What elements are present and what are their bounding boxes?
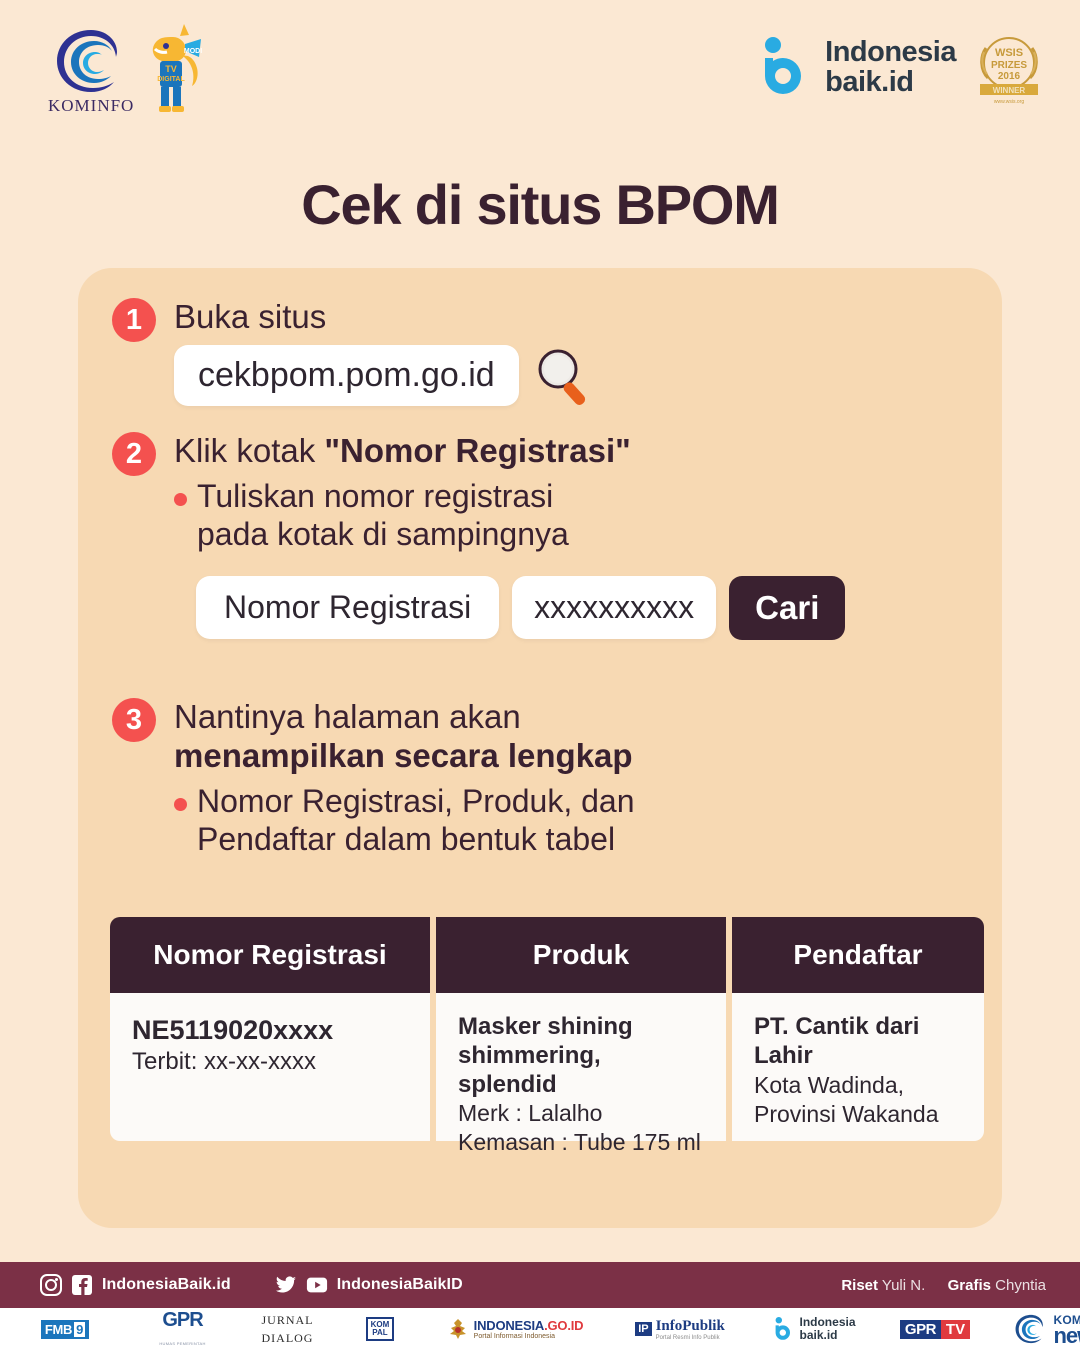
kominfo-newsroom-line2: newsroom	[1053, 1327, 1080, 1346]
social-handle-1[interactable]: IndonesiaBaik.id	[102, 1276, 231, 1294]
step-3-badge: 3	[112, 698, 156, 742]
infopublik-logo[interactable]: IP InfoPublik Portal Resmi Info Publik	[610, 1318, 750, 1341]
facebook-icon[interactable]	[71, 1274, 93, 1296]
page-title: Cek di situs BPOM	[0, 172, 1080, 237]
step-3-bullet-line2: Pendaftar dalam bentuk tabel	[197, 820, 635, 858]
kominfo-wave-icon	[54, 28, 128, 94]
step-2-heading: Klik kotak "Nomor Registrasi"	[174, 432, 845, 471]
indonesiabaik-b-icon	[761, 36, 811, 98]
step-1-badge: 1	[112, 298, 156, 342]
infopublik-text: InfoPublik	[656, 1318, 725, 1335]
kominfo-branding: KOMINFO TV DIGITAL MODI	[48, 16, 208, 116]
credits: Riset Yuli N. Grafis Chyntia	[841, 1277, 1046, 1294]
kompal-text2: PAL	[372, 1328, 387, 1337]
svg-text:WSIS: WSIS	[995, 47, 1023, 59]
table-header-produk: Produk	[436, 917, 726, 993]
gpr-logo[interactable]: GPR HUMAS PEMERINTAH	[130, 1309, 235, 1350]
step-2-heading-prefix: Klik kotak	[174, 432, 324, 469]
grafis-name: Chyntia	[995, 1277, 1046, 1294]
registration-code: NE5119020xxxx	[132, 1013, 408, 1047]
step-1: 1 Buka situs cekbpom.pom.go.id	[112, 298, 595, 407]
step-2-bullet-line1: Tuliskan nomor registrasi	[197, 477, 569, 515]
fmb9-text: FMB	[45, 1322, 72, 1337]
cari-button[interactable]: Cari	[729, 576, 845, 640]
svg-text:DIGITAL: DIGITAL	[157, 76, 185, 83]
indonesiabaik-b-icon	[774, 1316, 794, 1342]
produk-name-line1: Masker shining	[458, 1013, 704, 1042]
kominfo-newsroom-logo[interactable]: KOMINFO newsroom	[990, 1313, 1080, 1346]
step-3-heading-line2: menampilkan secara lengkap	[174, 737, 635, 776]
indonesiabaik-branding: Indonesia baik.id WSIS PRIZES 2016 WINNE…	[761, 28, 1048, 106]
twitter-icon[interactable]	[275, 1274, 297, 1296]
indonesiabaik-line2: baik.id	[825, 67, 956, 97]
footer-social-bar: IndonesiaBaik.id IndonesiaBaikID Riset Y…	[0, 1262, 1080, 1308]
table-cell-nomor-registrasi: NE5119020xxxx Terbit: xx-xx-xxxx	[110, 993, 430, 1141]
table-column-pendaftar: Pendaftar PT. Cantik dari Lahir Kota Wad…	[732, 917, 984, 1141]
pendaftar-city: Kota Wadinda,	[754, 1071, 962, 1100]
indonesiabaik-footer-logo[interactable]: Indonesia baik.id	[750, 1316, 880, 1342]
indonesia-go-id-text: INDONESIA.GO.ID	[474, 1318, 584, 1333]
fmb9-number: 9	[74, 1322, 85, 1337]
indonesiabaik-wordmark: Indonesia baik.id	[825, 37, 956, 98]
produk-kemasan: Kemasan : Tube 175 ml	[458, 1128, 704, 1157]
svg-text:www.wsis.org: www.wsis.org	[994, 99, 1025, 105]
step-2-heading-bold: "Nomor Registrasi"	[324, 432, 630, 469]
registration-type-select[interactable]: Nomor Registrasi	[196, 576, 499, 639]
step-2-bullet-line2: pada kotak di sampingnya	[197, 515, 569, 553]
produk-merk: Merk : Lalalho	[458, 1099, 704, 1128]
url-row: cekbpom.pom.go.id	[174, 345, 595, 407]
table-column-nomor-registrasi: Nomor Registrasi NE5119020xxxx Terbit: x…	[110, 917, 430, 1141]
step-3-bullet: Nomor Registrasi, Produk, dan Pendaftar …	[174, 782, 635, 859]
social-group-1: IndonesiaBaik.id IndonesiaBaikID	[40, 1274, 463, 1296]
svg-text:WINNER: WINNER	[993, 86, 1026, 95]
kompal-logo[interactable]: KOM PAL	[340, 1317, 420, 1340]
bpom-search-form: Nomor Registrasi xxxxxxxxxx Cari	[196, 576, 845, 640]
infographic-page: KOMINFO TV DIGITAL MODI	[0, 0, 1080, 1350]
wsis-prizes-award-icon: WSIS PRIZES 2016 WINNER www.wsis.org	[970, 28, 1048, 106]
step-2-bullet-text: Tuliskan nomor registrasi pada kotak di …	[197, 477, 569, 554]
indonesiabaik-line1: Indonesia	[825, 37, 956, 67]
step-2: 2 Klik kotak "Nomor Registrasi" Tuliskan…	[112, 432, 845, 640]
header: KOMINFO TV DIGITAL MODI	[0, 0, 1080, 140]
social-handle-2[interactable]: IndonesiaBaikID	[337, 1276, 463, 1294]
website-url-field[interactable]: cekbpom.pom.go.id	[174, 345, 519, 406]
step-3-heading-line1: Nantinya halaman akan	[174, 698, 635, 737]
gpr-text: GPR	[162, 1309, 202, 1331]
result-table: Nomor Registrasi NE5119020xxxx Terbit: x…	[110, 917, 972, 1141]
step-2-bullet: Tuliskan nomor registrasi pada kotak di …	[174, 477, 845, 554]
riset-name: Yuli N.	[882, 1277, 925, 1294]
bullet-dot-icon	[174, 493, 187, 506]
table-cell-pendaftar: PT. Cantik dari Lahir Kota Wadinda, Prov…	[732, 993, 984, 1141]
fmb9-logo[interactable]: FMB9	[0, 1320, 130, 1339]
produk-name-line2: shimmering, splendid	[458, 1042, 704, 1100]
step-1-heading: Buka situs	[174, 298, 595, 337]
mascot-flag-label: MODI	[184, 48, 202, 55]
indonesia-go-id-subtext: Portal Informasi Indonesia	[474, 1333, 584, 1340]
table-column-produk: Produk Masker shining shimmering, splend…	[436, 917, 726, 1141]
registration-number-input[interactable]: xxxxxxxxxx	[512, 576, 716, 639]
kominfo-wave-icon	[1014, 1314, 1048, 1344]
jurnal-dialog-logo[interactable]: JURNAL DIALOG	[235, 1311, 340, 1347]
youtube-icon[interactable]	[306, 1274, 328, 1296]
gprtv-tv-text: TV	[941, 1320, 970, 1339]
gpr-subtext: HUMAS PEMERINTAH	[159, 1341, 205, 1346]
step-3-bullet-text: Nomor Registrasi, Produk, dan Pendaftar …	[197, 782, 635, 859]
step-3-bullet-line1: Nomor Registrasi, Produk, dan	[197, 782, 635, 820]
magnifying-glass-icon	[533, 345, 595, 407]
riset-label: Riset	[841, 1277, 878, 1294]
step-3: 3 Nantinya halaman akan menampilkan seca…	[112, 698, 635, 859]
gprtv-logo[interactable]: GPR TV	[880, 1320, 990, 1339]
grafis-label: Grafis	[948, 1277, 991, 1294]
instagram-icon[interactable]	[40, 1274, 62, 1296]
indonesiabaik-footer-line2: baik.id	[799, 1329, 855, 1342]
bullet-dot-icon	[174, 798, 187, 811]
registration-terbit: Terbit: xx-xx-xxxx	[132, 1047, 408, 1077]
svg-text:PRIZES: PRIZES	[991, 60, 1027, 71]
svg-text:2016: 2016	[998, 71, 1021, 82]
jurnal-text: JURNAL	[261, 1313, 313, 1327]
garuda-icon	[447, 1318, 469, 1340]
footer-partner-logos: FMB9 GPR HUMAS PEMERINTAH JURNAL DIALOG …	[0, 1308, 1080, 1350]
pendaftar-province: Provinsi Wakanda	[754, 1100, 962, 1129]
step-2-badge: 2	[112, 432, 156, 476]
gprtv-gpr-text: GPR	[900, 1320, 941, 1339]
kominfo-logo: KOMINFO	[48, 28, 134, 116]
pendaftar-company: PT. Cantik dari Lahir	[754, 1013, 962, 1071]
dialog-text: DIALOG	[261, 1331, 313, 1345]
kominfo-wordmark: KOMINFO	[48, 96, 134, 116]
svg-text:TV: TV	[165, 64, 177, 74]
indonesia-go-id-logo[interactable]: INDONESIA.GO.ID Portal Informasi Indones…	[420, 1318, 610, 1340]
infopublik-mark: IP	[635, 1322, 651, 1336]
table-header-nomor-registrasi: Nomor Registrasi	[110, 917, 430, 993]
infopublik-subtext: Portal Resmi Info Publik	[656, 1335, 725, 1341]
table-header-pendaftar: Pendaftar	[732, 917, 984, 993]
modi-mascot-icon: TV DIGITAL MODI	[142, 16, 208, 116]
table-cell-produk: Masker shining shimmering, splendid Merk…	[436, 993, 726, 1141]
